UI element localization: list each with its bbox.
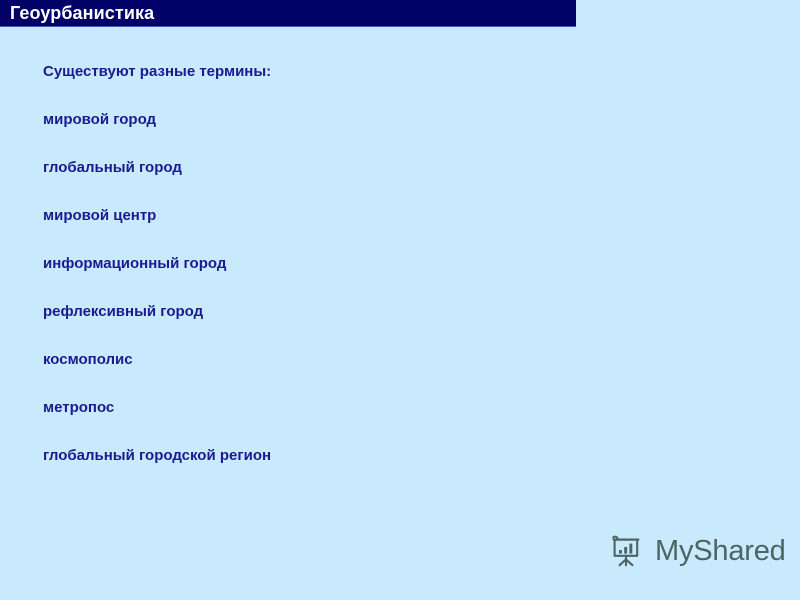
list-item: космополис <box>43 335 563 383</box>
list-item: мировой город <box>43 95 563 143</box>
presentation-chart-icon <box>606 531 646 571</box>
list-item: глобальный городской регион <box>43 431 563 479</box>
page-title: Геоурбанистика <box>0 4 154 22</box>
slide-canvas: Геоурбанистика Существуют разные термины… <box>0 0 800 600</box>
myshared-watermark: MyShared <box>606 531 786 571</box>
myshared-wordmark: MyShared <box>655 537 786 566</box>
slide-title-bar: Геоурбанистика <box>0 0 576 27</box>
list-item: метропос <box>43 383 563 431</box>
list-item: рефлексивный город <box>43 287 563 335</box>
list-item: Существуют разные термины: <box>43 47 563 95</box>
list-item: глобальный город <box>43 143 563 191</box>
list-item: информационный город <box>43 239 563 287</box>
list-item: мировой центр <box>43 191 563 239</box>
slide-body-list: Существуют разные термины: мировой город… <box>43 47 563 479</box>
